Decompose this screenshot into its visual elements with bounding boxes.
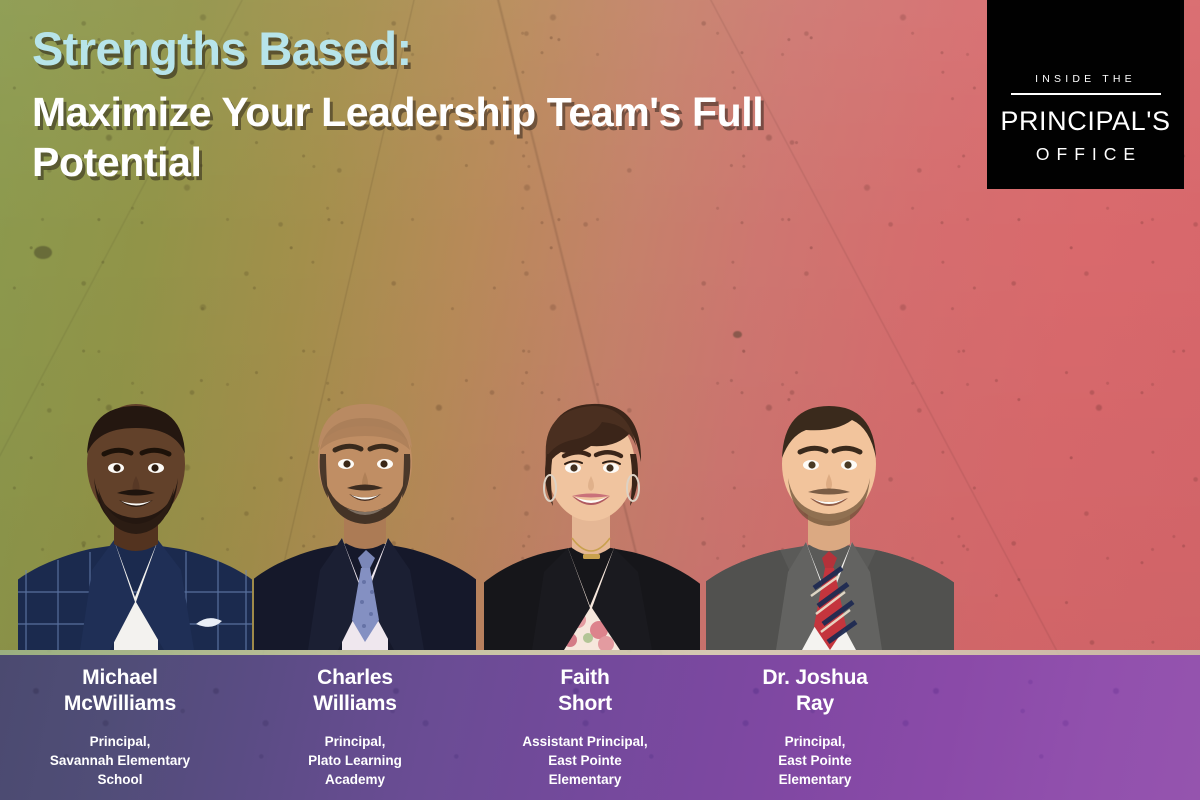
speaker-card-3: Faith Short Assistant Principal, East Po… bbox=[475, 655, 695, 789]
speaker-name: Dr. Joshua Ray bbox=[705, 665, 925, 718]
logo-main-text: PRINCIPAL'S bbox=[1000, 108, 1170, 135]
speaker-name-bar: Michael McWilliams Principal, Savannah E… bbox=[0, 655, 1200, 800]
speaker-role: Assistant Principal, East Pointe Element… bbox=[475, 732, 695, 789]
page-title-accent: Strengths Based: bbox=[32, 24, 932, 75]
speaker-name: Faith Short bbox=[475, 665, 695, 718]
headshot-faith-short bbox=[484, 392, 700, 650]
headshot-charles-williams bbox=[254, 382, 476, 650]
texture-blob bbox=[733, 331, 742, 338]
headshot-joshua-ray bbox=[706, 392, 954, 650]
speaker-card-2: Charles Williams Principal, Plato Learni… bbox=[245, 655, 465, 789]
promo-poster: Strengths Based: Maximize Your Leadershi… bbox=[0, 0, 1200, 800]
speaker-list: Michael McWilliams Principal, Savannah E… bbox=[0, 655, 1200, 800]
speaker-role: Principal, Plato Learning Academy bbox=[245, 732, 465, 789]
speaker-name: Charles Williams bbox=[245, 665, 465, 718]
logo-sub-text: OFFICE bbox=[1029, 146, 1142, 164]
texture-blob bbox=[34, 246, 52, 259]
speaker-name: Michael McWilliams bbox=[10, 665, 230, 718]
speaker-photo-row bbox=[0, 360, 1200, 650]
logo-divider-rule bbox=[1011, 93, 1161, 95]
logo-kicker-text: INSIDE THE bbox=[1035, 73, 1136, 85]
headshot-michael-mcwilliams bbox=[18, 392, 252, 650]
speaker-card-1: Michael McWilliams Principal, Savannah E… bbox=[10, 655, 230, 789]
speaker-role: Principal, Savannah Elementary School bbox=[10, 732, 230, 789]
title-block: Strengths Based: Maximize Your Leadershi… bbox=[32, 24, 932, 187]
page-title-main: Maximize Your Leadership Team's Full Pot… bbox=[32, 87, 912, 187]
speaker-card-4: Dr. Joshua Ray Principal, East Pointe El… bbox=[705, 655, 925, 789]
speaker-role: Principal, East Pointe Elementary bbox=[705, 732, 925, 789]
brand-logo: INSIDE THE PRINCIPAL'S OFFICE bbox=[987, 0, 1184, 189]
